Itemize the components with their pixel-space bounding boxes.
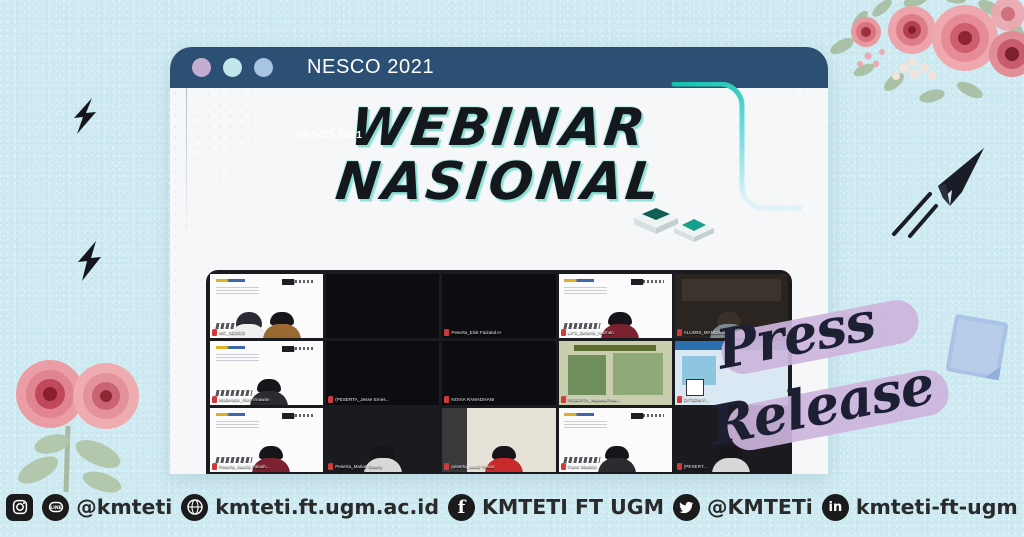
participant-name: NOVIA RAMADHANI	[451, 397, 494, 402]
zoom-participant-tile[interactable]: DITSDM F...	[675, 341, 788, 405]
participant-nameplate: Frans Waskito	[561, 463, 670, 470]
participant-nameplate: Peserta_Elok Faizatul.H	[444, 329, 553, 336]
zoom-participant-tile[interactable]: ALUMNI_MANDAHAR...	[675, 274, 788, 338]
participant-nameplate: NOVIA RAMADHANI	[444, 396, 553, 403]
zoom-participant-tile[interactable]: LIFS_Bebenk_Haznan	[559, 274, 672, 338]
photo-frame-icon	[945, 314, 1008, 380]
divider-line	[186, 88, 187, 238]
rose-bouquet-decoration	[820, 0, 1024, 114]
participant-name: (PESERT...	[684, 464, 707, 469]
footer-item-instagram[interactable]	[6, 494, 33, 521]
participant-name: Moderator_Roni Irnawan	[219, 397, 270, 402]
participant-nameplate: peserta_sandi Yosua	[444, 463, 553, 470]
zoom-participant-tile[interactable]: Peserta_Elok Faizatul.H	[442, 274, 555, 338]
muted-mic-icon	[561, 396, 566, 403]
footer-item-website[interactable]: kmteti.ft.ugm.ac.id	[181, 494, 439, 521]
footer-item-linkedin[interactable]: in kmteti-ft-ugm	[822, 494, 1018, 521]
muted-mic-icon	[444, 396, 449, 403]
instagram-icon[interactable]	[6, 494, 33, 521]
muted-mic-icon	[212, 463, 217, 470]
participant-nameplate: Peserta_Naufal Falaah...	[212, 463, 321, 470]
participant-nameplate: Peserta_Matias Oiwely	[328, 463, 437, 470]
participant-nameplate: MC_NESCO	[212, 329, 321, 336]
zoom-participant-tile[interactable]: Peserta_Matias Oiwely	[326, 408, 439, 472]
zoom-participant-tile[interactable]: (PESERT...	[675, 408, 788, 472]
zoom-participant-tile[interactable]: Frans Waskito	[559, 408, 672, 472]
zoom-participant-tile[interactable]: NOVIA RAMADHANI	[442, 341, 555, 405]
footer-label-twitter: @KMTETi	[707, 497, 813, 518]
facebook-icon[interactable]: f	[448, 494, 475, 521]
zoom-meeting-grid[interactable]: MC_NESCO Peserta_Elok Faizatul.H LIFS_Be…	[206, 270, 792, 474]
zoom-participant-tile[interactable]: (PESERTA_Jesse Ernes...	[326, 341, 439, 405]
line-icon[interactable]: LINE	[42, 494, 69, 521]
twitter-icon[interactable]	[673, 494, 700, 521]
footer-label-linkedin: kmteti-ft-ugm	[856, 497, 1018, 518]
footer-label-facebook: KMTETI FT UGM	[482, 497, 664, 518]
social-footer: LINE @kmteti kmteti.ft.ugm.ac.id f KMTET…	[0, 485, 1024, 529]
footer-item-facebook[interactable]: f KMTETI FT UGM	[448, 494, 664, 521]
window-dot-cyan[interactable]	[223, 58, 242, 77]
linkedin-icon[interactable]: in	[822, 494, 849, 521]
footer-item-line[interactable]: LINE @kmteti	[42, 494, 172, 521]
muted-mic-icon	[328, 463, 333, 470]
participant-nameplate: LIFS_Bebenk_Haznan	[561, 329, 670, 336]
muted-mic-icon	[328, 396, 333, 403]
footer-label-line: @kmteti	[76, 497, 172, 518]
window-title: NESCO 2021	[307, 56, 434, 79]
teal-bracket-decoration	[666, 82, 806, 232]
muted-mic-icon	[677, 463, 682, 470]
participant-name: DITSDM F...	[684, 397, 709, 402]
participant-name: (PESERTA_Jesse Ernes...	[335, 397, 389, 402]
svg-text:LINE: LINE	[50, 505, 62, 511]
participant-nameplate: ALUMNI_MANDAHAR...	[677, 329, 786, 336]
muted-mic-icon	[677, 396, 682, 403]
muted-mic-icon	[561, 463, 566, 470]
zoom-participant-tile[interactable]: peserta_sandi Yosua	[442, 408, 555, 472]
muted-mic-icon	[212, 329, 217, 336]
muted-mic-icon	[561, 329, 566, 336]
participant-name: LIFS_Bebenk_Haznan	[568, 330, 614, 335]
footer-item-twitter[interactable]: @KMTETi	[673, 494, 813, 521]
participant-name: peserta_sandi Yosua	[451, 464, 494, 469]
zoom-participant-tile[interactable]: PESERTA_Mayesa?Nur...	[559, 341, 672, 405]
participant-name: PESERTA_Mayesa?Nur...	[568, 397, 621, 402]
participant-nameplate: PESERTA_Mayesa?Nur...	[561, 396, 670, 403]
participant-name: Frans Waskito	[568, 464, 597, 469]
zoom-participant-tile[interactable]	[326, 274, 439, 338]
participant-name: MC_NESCO	[219, 330, 245, 335]
participant-nameplate: Moderator_Roni Irnawan	[212, 396, 321, 403]
zoom-screen-label: NESCO 2021	[296, 130, 363, 141]
participant-nameplate: DITSDM F...	[677, 396, 786, 403]
zoom-participant-tile[interactable]: MC_NESCO	[210, 274, 323, 338]
muted-mic-icon	[677, 329, 682, 336]
zoom-participant-tile[interactable]: Moderator_Roni Irnawan	[210, 341, 323, 405]
browser-window: NESCO 2021 WEBINAR NASIONAL	[170, 47, 828, 474]
lightning-bolt-icon	[68, 96, 102, 136]
window-dot-purple[interactable]	[192, 58, 211, 77]
muted-mic-icon	[444, 463, 449, 470]
muted-mic-icon	[444, 329, 449, 336]
zoom-participant-tile[interactable]: Peserta_Naufal Falaah...	[210, 408, 323, 472]
footer-label-website: kmteti.ft.ugm.ac.id	[215, 497, 439, 518]
participant-name: Peserta_Elok Faizatul.H	[451, 330, 500, 335]
window-dot-blue[interactable]	[254, 58, 273, 77]
participant-video	[326, 274, 439, 338]
lightning-bolt-icon	[74, 240, 104, 282]
paper-plane-icon	[880, 140, 992, 250]
website-icon[interactable]	[181, 494, 208, 521]
participant-name: Peserta_Naufal Falaah...	[219, 464, 270, 469]
participant-name: Peserta_Matias Oiwely	[335, 464, 382, 469]
participant-nameplate: (PESERTA_Jesse Ernes...	[328, 396, 437, 403]
rose-pair-decoration	[2, 322, 162, 497]
participant-nameplate: (PESERT...	[677, 463, 786, 470]
muted-mic-icon	[212, 396, 217, 403]
window-content: WEBINAR NASIONAL	[170, 88, 828, 474]
participant-name: ALUMNI_MANDAHAR...	[684, 330, 734, 335]
